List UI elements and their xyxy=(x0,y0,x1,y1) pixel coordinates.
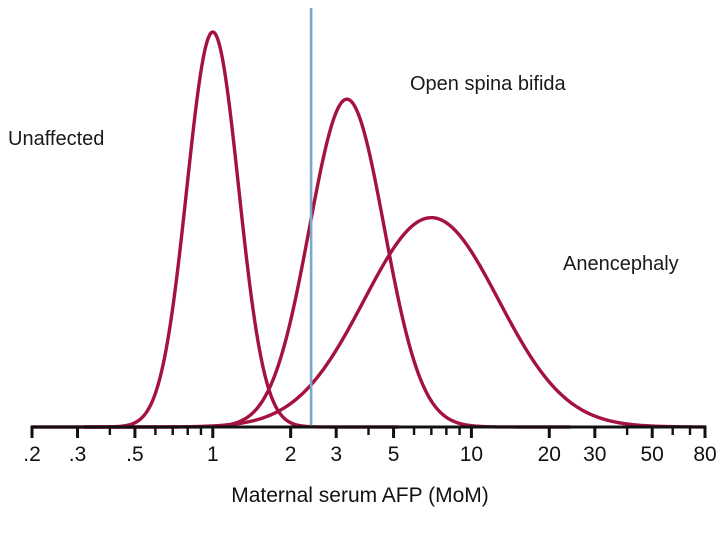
curve-label-open-spina-bifida: Open spina bifida xyxy=(410,73,566,96)
distribution-curve-open-spina-bifida xyxy=(85,99,570,427)
x-tick-label-30: 30 xyxy=(583,443,606,467)
distribution-curve-anencephaly xyxy=(85,218,705,427)
x-tick-label-3: 3 xyxy=(330,443,342,467)
curve-label-unaffected: Unaffected xyxy=(8,128,104,151)
x-tick-label-5: 5 xyxy=(388,443,400,467)
x-tick-label-80: 80 xyxy=(693,443,716,467)
x-tick-label-10: 10 xyxy=(460,443,483,467)
chart-figure: Unaffected Open spina bifida Anencephaly… xyxy=(0,0,720,540)
x-tick-label-0.2: .2 xyxy=(23,443,41,467)
x-tick-label-2: 2 xyxy=(285,443,297,467)
x-axis-title: Maternal serum AFP (MoM) xyxy=(0,484,720,508)
distribution-curve-unaffected xyxy=(32,32,398,427)
x-tick-label-0.3: .3 xyxy=(69,443,87,467)
x-tick-label-1: 1 xyxy=(207,443,219,467)
x-tick-label-50: 50 xyxy=(641,443,664,467)
curve-label-anencephaly: Anencephaly xyxy=(563,253,679,276)
x-tick-label-20: 20 xyxy=(538,443,561,467)
curves-group xyxy=(32,32,705,427)
x-tick-label-0.5: .5 xyxy=(126,443,144,467)
